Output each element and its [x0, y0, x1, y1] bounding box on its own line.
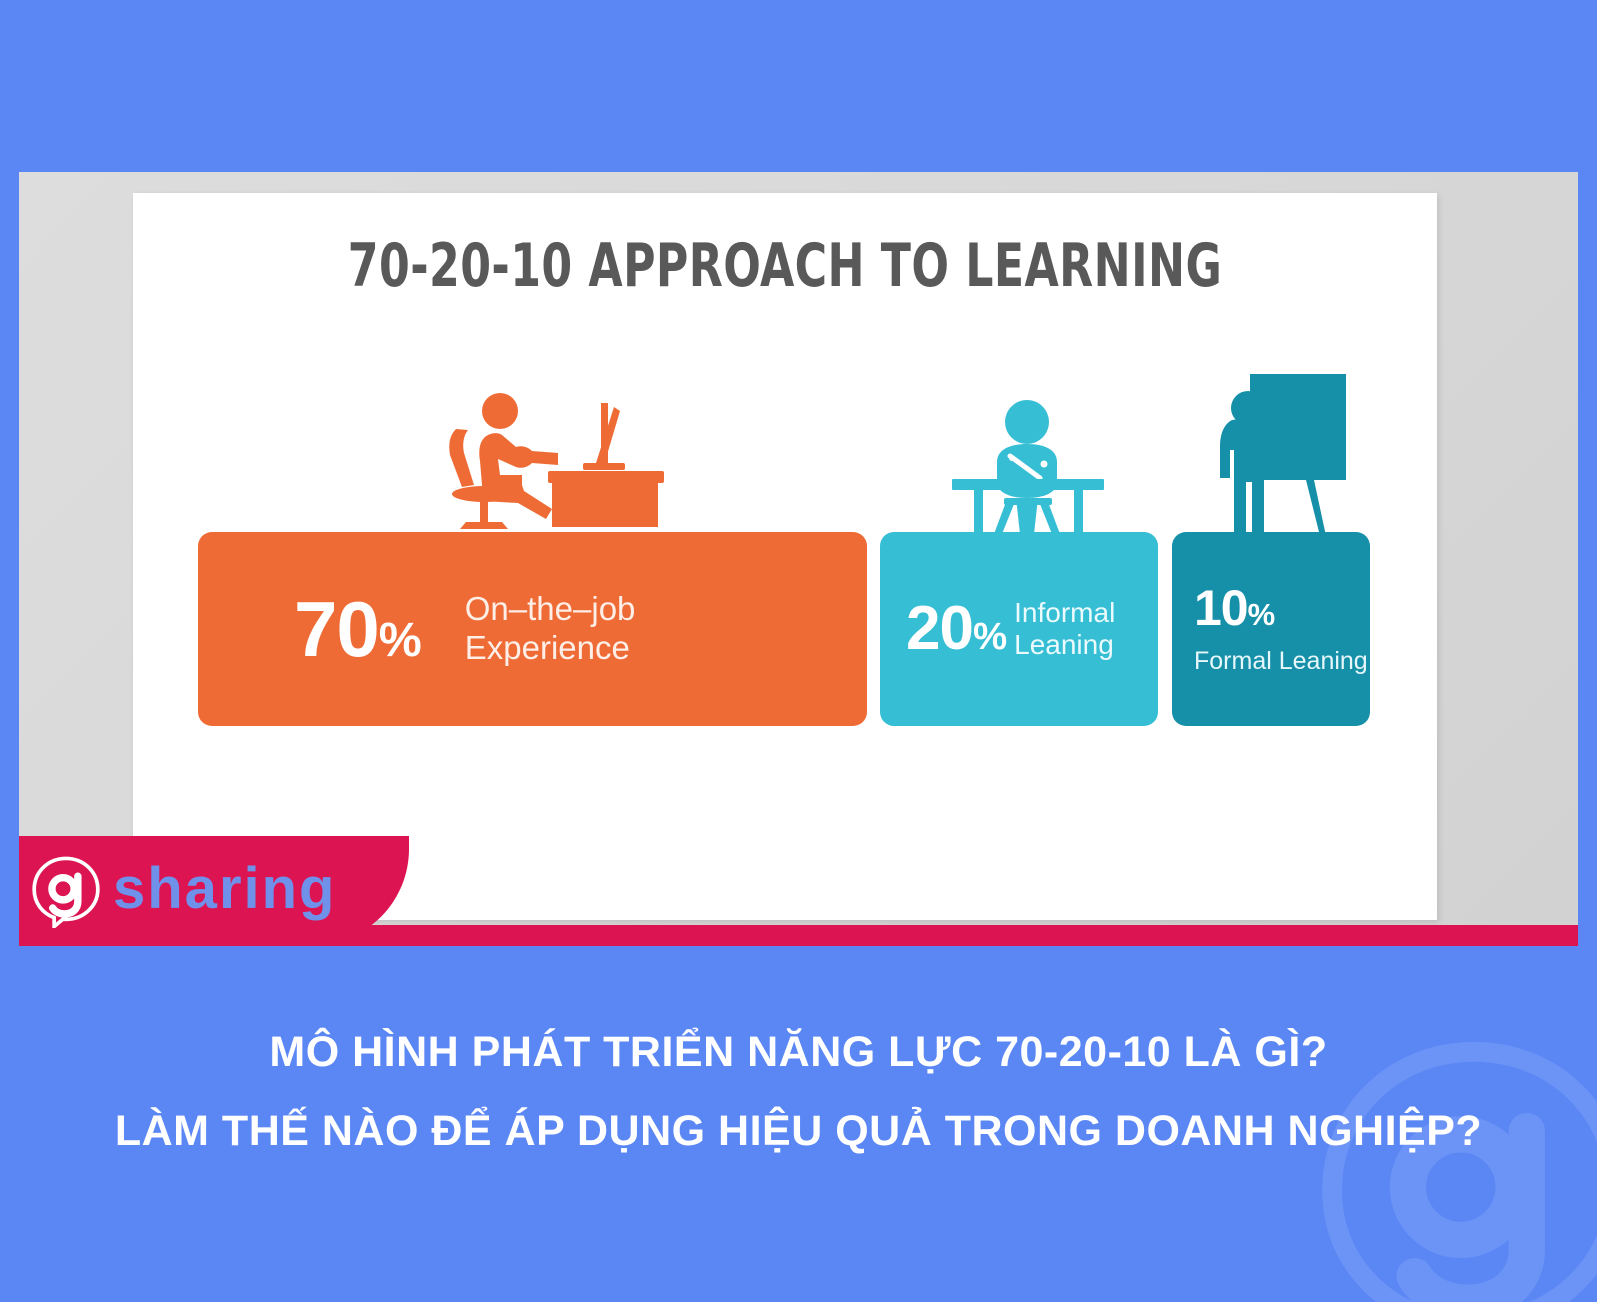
bar-70-percent: 70% On–the–job Experience — [198, 532, 867, 726]
bar-20-label: Informal Leaning — [1014, 597, 1115, 661]
person-at-table-icon — [922, 386, 1132, 541]
slide-card: 70-20-10 APPROACH TO LEARNING — [133, 193, 1437, 920]
brand-name: sharing — [113, 855, 337, 922]
bar-70-label: On–the–job Experience — [465, 590, 636, 667]
bar-70-value: 70% — [294, 590, 421, 668]
bar-10-percent: 10% Formal Leaning — [1172, 532, 1370, 726]
brand-banner: sharing — [19, 836, 409, 945]
bar-10-value: 10% — [1194, 583, 1274, 633]
page-title: 70-20-10 APPROACH TO LEARNING — [250, 231, 1319, 301]
bar-10-label: Formal Leaning — [1194, 647, 1368, 676]
g-speech-bubble-logo-icon — [29, 854, 103, 928]
person-at-flipchart-icon — [1188, 358, 1358, 540]
bar-20-value: 20% — [906, 598, 1006, 660]
person-at-computer-desk-icon — [436, 381, 666, 541]
caption-line-1: MÔ HÌNH PHÁT TRIỂN NĂNG LỰC 70-20-10 LÀ … — [0, 1028, 1597, 1077]
caption-line-2: LÀM THẾ NÀO ĐỂ ÁP DỤNG HIỆU QUẢ TRONG DO… — [0, 1107, 1597, 1156]
bar-20-percent: 20% Informal Leaning — [880, 532, 1158, 726]
caption-block: MÔ HÌNH PHÁT TRIỂN NĂNG LỰC 70-20-10 LÀ … — [0, 1028, 1597, 1156]
